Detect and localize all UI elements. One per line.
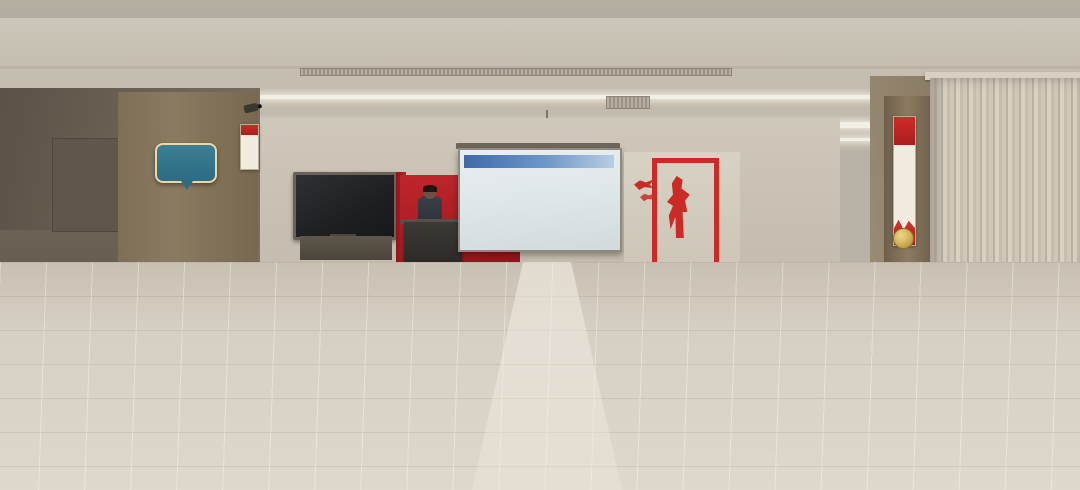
artwork-frame-top bbox=[652, 158, 719, 163]
projection-screen bbox=[460, 150, 620, 250]
presenter-hair bbox=[423, 185, 437, 192]
poster-header-band bbox=[894, 117, 915, 145]
wall-poster-small bbox=[240, 124, 259, 170]
seminar-room-photo bbox=[0, 0, 1080, 490]
artwork-frame-left bbox=[652, 158, 657, 262]
wall-sign-company-pillar bbox=[155, 143, 217, 183]
ceiling-vent-small bbox=[606, 96, 650, 109]
av-cabinet bbox=[300, 236, 392, 260]
projection-screen-frame bbox=[458, 148, 622, 252]
artwork-frame-right bbox=[714, 158, 719, 262]
wall-poster-tall bbox=[893, 116, 916, 246]
left-wall-panel bbox=[52, 138, 122, 232]
slide-header-bar bbox=[464, 155, 614, 168]
ceiling-vent-long bbox=[300, 68, 732, 76]
window-curtain bbox=[930, 78, 1080, 293]
poster-small-header-band bbox=[241, 125, 258, 135]
ceiling-edge-shadow bbox=[0, 0, 1080, 18]
wall-monitor bbox=[293, 172, 397, 240]
wall-badge-icon bbox=[893, 228, 914, 249]
podium bbox=[404, 222, 462, 262]
